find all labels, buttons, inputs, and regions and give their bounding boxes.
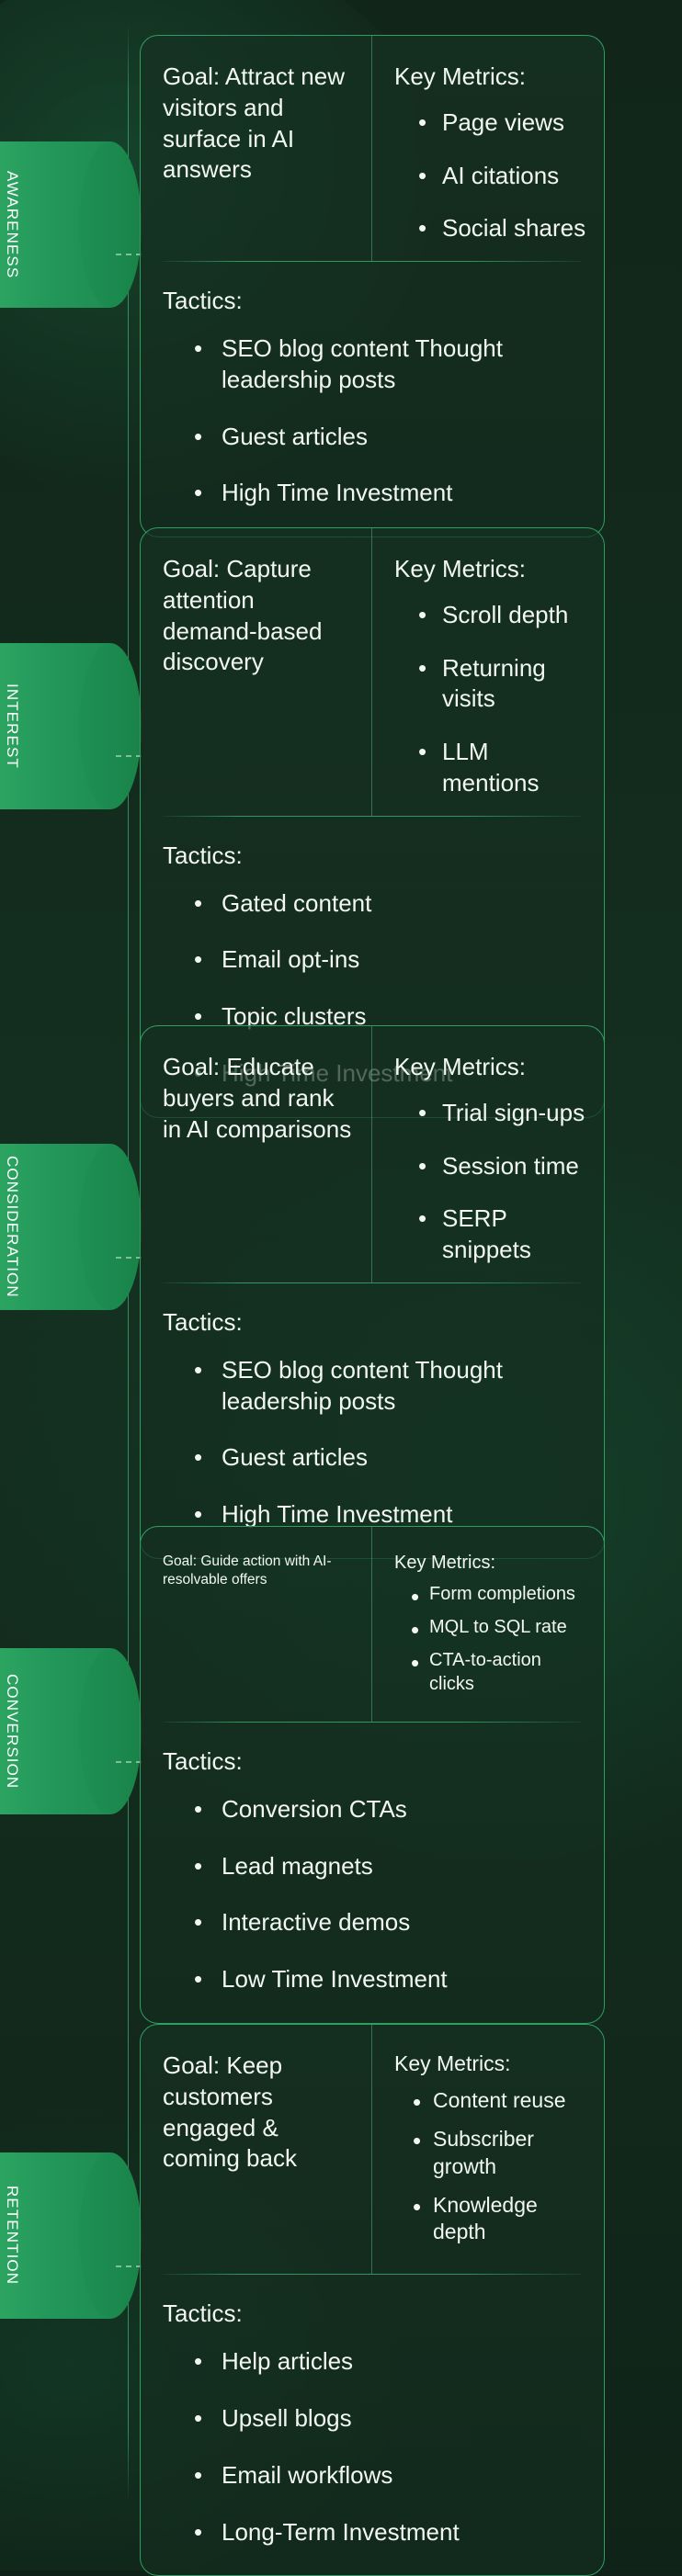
goal-text: Goal: Attract new visitors and surface i… [163,62,353,186]
goal-column: Goal: Guide action with AI-resolvable of… [141,1527,372,1722]
tactics-title: Tactics: [163,1307,582,1339]
stage-connector [116,2265,142,2267]
list-item: SERP snippets [418,1203,589,1266]
metrics-list: Scroll depth Returning visits LLM mentio… [394,600,589,799]
list-item: SEO blog content Thought leadership post… [194,333,582,396]
stage-connector [116,755,142,757]
metrics-list: Page views AI citations Social shares [394,107,589,244]
list-item: High Time Investment [194,478,582,509]
list-item: Help articles [194,2346,582,2378]
list-item: Low Time Investment [194,1964,582,1995]
funnel-diagram: AWARENESS Goal: Attract new visitors and… [0,0,682,2570]
list-item: Interactive demos [194,1907,582,1938]
stage-cylinder-retention[interactable]: RETENTION [0,2152,110,2319]
metrics-list: Trial sign-ups Session time SERP snippet… [394,1098,589,1266]
tactics-list: Conversion CTAs Lead magnets Interactive… [163,1794,582,1995]
card-bottom-section: Tactics: Conversion CTAs Lead magnets In… [141,1723,604,2023]
stage-cylinder-interest[interactable]: INTEREST [0,643,110,809]
goal-text: Goal: Capture attention demand-based dis… [163,554,353,678]
list-item: Long-Term Investment [194,2517,582,2548]
list-item: Lead magnets [194,1851,582,1882]
stage-label: CONSIDERATION [0,1144,33,1310]
metrics-column: Key Metrics: Form completions MQL to SQL… [372,1527,604,1722]
cylinder-front-cap [79,643,142,809]
stage-cylinder-awareness[interactable]: AWARENESS [0,141,110,308]
goal-text: Goal: Keep customers engaged & coming ba… [163,2051,353,2175]
goal-text: Goal: Educate buyers and rank in AI comp… [163,1052,353,1145]
cylinder-front-cap [79,141,142,308]
list-item: Page views [418,107,589,139]
stage-connector [116,254,142,255]
list-item: Content reuse [413,2087,589,2115]
goal-column: Goal: Capture attention demand-based dis… [141,528,372,816]
list-item: Form completions [411,1582,589,1606]
card-top-section: Goal: Capture attention demand-based dis… [141,528,604,816]
cylinder-front-cap [79,1648,142,1814]
metrics-list: Content reuse Subscriber growth Knowledg… [394,2087,589,2246]
list-item: SEO blog content Thought leadership post… [194,1355,582,1418]
cylinder-front-cap [79,2152,142,2319]
goal-text: Goal: Guide action with AI-resolvable of… [163,1553,353,1589]
stage-card-retention[interactable]: Goal: Keep customers engaged & coming ba… [140,2024,605,2576]
card-top-section: Goal: Keep customers engaged & coming ba… [141,2025,604,2274]
cylinder-front-cap [79,1144,142,1310]
tactics-title: Tactics: [163,1746,582,1778]
list-item: Session time [418,1151,589,1182]
card-top-section: Goal: Educate buyers and rank in AI comp… [141,1026,604,1282]
stage-label: INTEREST [0,643,33,809]
card-bottom-section: Tactics: Help articles Upsell blogs Emai… [141,2275,604,2575]
metrics-title: Key Metrics: [394,554,589,585]
tactics-list: Help articles Upsell blogs Email workflo… [163,2346,582,2548]
metrics-column: Key Metrics: Trial sign-ups Session time… [372,1026,604,1282]
list-item: Guest articles [194,422,582,453]
goal-column: Goal: Educate buyers and rank in AI comp… [141,1026,372,1282]
metrics-column: Key Metrics: Page views AI citations Soc… [372,36,604,261]
metrics-title: Key Metrics: [394,1052,589,1083]
list-item: LLM mentions [418,737,589,799]
stage-connector [116,1257,142,1259]
list-item: CTA-to-action clicks [411,1648,589,1696]
list-item: Conversion CTAs [194,1794,582,1825]
stage-label: RETENTION [0,2152,33,2319]
tactics-title: Tactics: [163,841,582,872]
stage-card-conversion[interactable]: Goal: Guide action with AI-resolvable of… [140,1526,605,2024]
tactics-list: SEO blog content Thought leadership post… [163,333,582,509]
stage-label: CONVERSION [0,1648,33,1814]
list-item: Guest articles [194,1442,582,1474]
goal-column: Goal: Keep customers engaged & coming ba… [141,2025,372,2274]
list-item: Returning visits [418,653,589,716]
list-item: Social shares [418,213,589,244]
card-top-section: Goal: Attract new visitors and surface i… [141,36,604,261]
card-bottom-section: Tactics: SEO blog content Thought leader… [141,262,604,537]
list-item: Gated content [194,888,582,920]
metrics-column: Key Metrics: Content reuse Subscriber gr… [372,2025,604,2274]
metrics-column: Key Metrics: Scroll depth Returning visi… [372,528,604,816]
metrics-title: Key Metrics: [394,1551,589,1575]
stage-connector [116,1761,142,1763]
stage-cylinder-conversion[interactable]: CONVERSION [0,1648,110,1814]
stage-card-consideration[interactable]: Goal: Educate buyers and rank in AI comp… [140,1025,605,1559]
metrics-title: Key Metrics: [394,2051,589,2078]
tactics-title: Tactics: [163,2299,582,2330]
metrics-list: Form completions MQL to SQL rate CTA-to-… [394,1582,589,1696]
goal-column: Goal: Attract new visitors and surface i… [141,36,372,261]
list-item: Upsell blogs [194,2403,582,2435]
tactics-title: Tactics: [163,286,582,317]
list-item: Knowledge depth [413,2192,589,2247]
stage-label: AWARENESS [0,141,33,308]
list-item: Email opt-ins [194,944,582,976]
list-item: Scroll depth [418,600,589,631]
card-bottom-section: Tactics: SEO blog content Thought leader… [141,1283,604,1558]
metrics-title: Key Metrics: [394,62,589,93]
list-item: Trial sign-ups [418,1098,589,1129]
list-item: Email workflows [194,2460,582,2491]
list-item: AI citations [418,161,589,192]
stage-cylinder-consideration[interactable]: CONSIDERATION [0,1144,110,1310]
list-item: Subscriber growth [413,2126,589,2181]
tactics-list: SEO blog content Thought leadership post… [163,1355,582,1531]
list-item: MQL to SQL rate [411,1615,589,1639]
card-top-section: Goal: Guide action with AI-resolvable of… [141,1527,604,1722]
stage-card-awareness[interactable]: Goal: Attract new visitors and surface i… [140,35,605,537]
